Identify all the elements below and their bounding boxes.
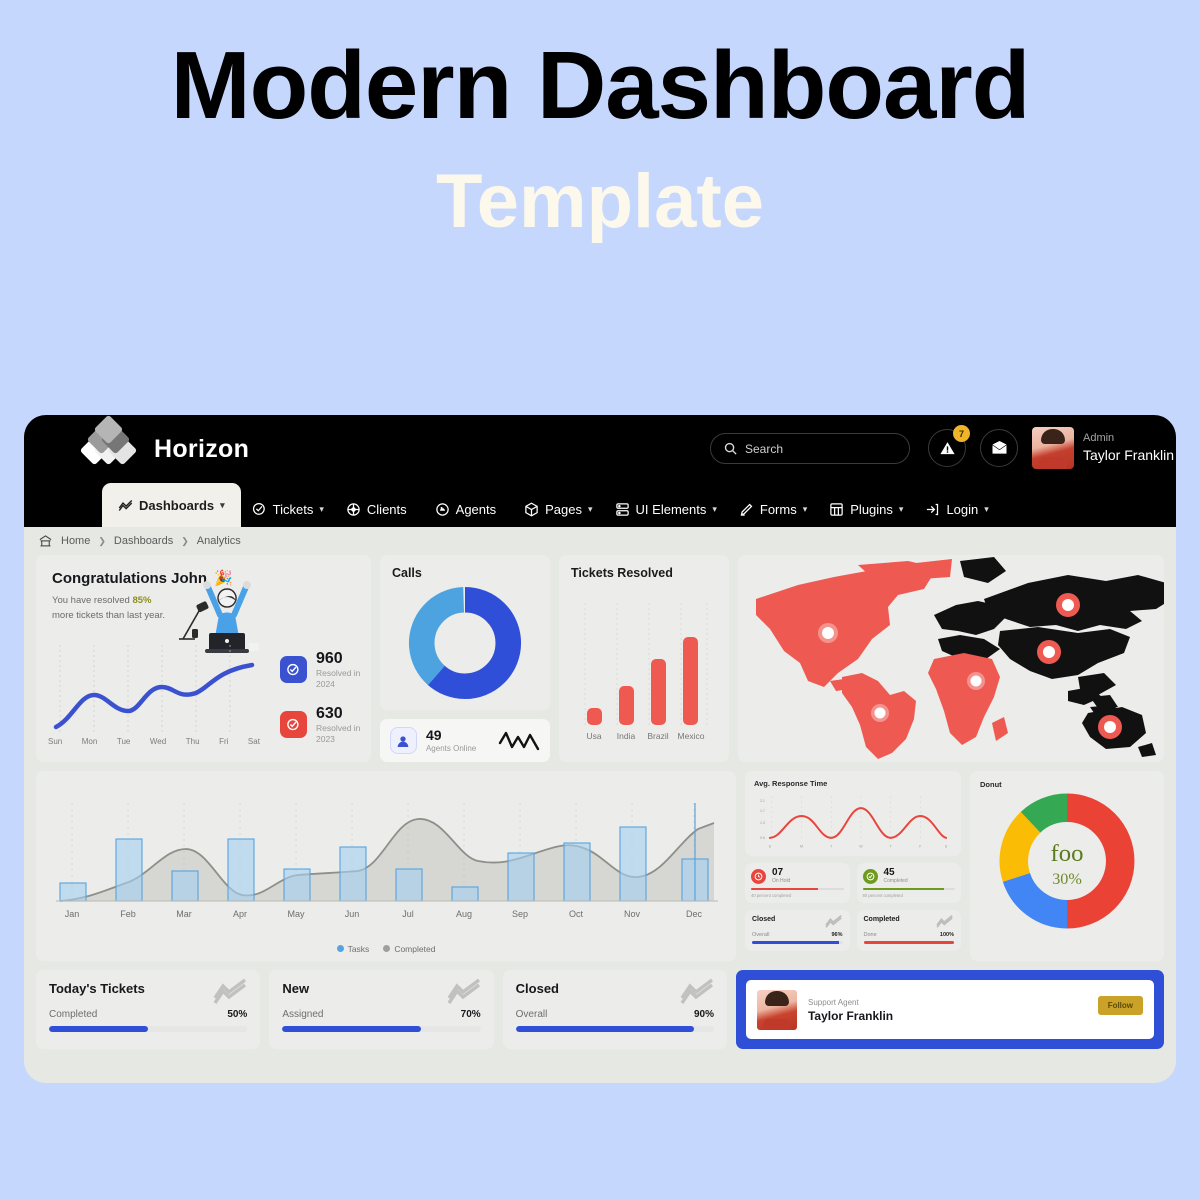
congrats-line2: more tickets than last year. xyxy=(52,610,165,621)
trend-up-icon xyxy=(936,915,954,928)
horizon-logo-icon xyxy=(80,428,142,470)
map-pin xyxy=(967,672,985,690)
map-pin xyxy=(1056,593,1080,617)
trend-up-icon xyxy=(447,978,481,1004)
congrats-line1-pre: You have resolved xyxy=(52,595,132,606)
donut-chart: foo 30% xyxy=(991,785,1143,937)
world-map-card xyxy=(738,555,1164,762)
tile-progress-bar xyxy=(516,1026,714,1032)
x-tick: Sun xyxy=(48,737,62,746)
user-role: Admin xyxy=(1083,431,1174,446)
completed-metric-card: 45 Completed 80 percent completed xyxy=(857,863,962,903)
mini-metrics-row: 07 On Hold 40 percent completed xyxy=(745,863,961,903)
nav-item-forms[interactable]: Forms ▾ xyxy=(728,491,818,527)
x-tick: Jul xyxy=(402,909,414,919)
x-tick: Fri xyxy=(219,737,228,746)
tile-label: Assigned xyxy=(282,1009,323,1020)
x-tick: Sep xyxy=(512,909,528,919)
check-badge-icon xyxy=(280,711,307,738)
main-nav: Dashboards ▾ Tickets ▾ Clients Age xyxy=(24,483,1176,527)
breadcrumb-analytics[interactable]: Analytics xyxy=(197,535,241,547)
x-tick: M xyxy=(800,845,803,849)
completed-icon xyxy=(863,869,878,884)
nav-label: Dashboards xyxy=(139,498,214,513)
ticket-check-icon xyxy=(252,502,267,517)
map-pin xyxy=(871,704,889,722)
tickets-bar-chart: Usa India Brazil Mexico xyxy=(571,588,717,750)
grid-icon xyxy=(829,502,844,517)
weekly-chart-labels: Sun Mon Tue Wed Thu Fri Sat xyxy=(46,737,262,746)
x-tick: Jun xyxy=(345,909,360,919)
nav-item-ui-elements[interactable]: UI Elements ▾ xyxy=(604,491,728,527)
metric-footer: 80 percent completed xyxy=(863,893,956,898)
promo-subtitle: Template xyxy=(0,164,1200,240)
nav-item-dashboards[interactable]: Dashboards ▾ xyxy=(102,483,241,527)
trend-up-icon xyxy=(680,978,714,1004)
progress-metrics-row: Closed Overall 96% Completed xyxy=(745,910,961,951)
support-agent-role: Support Agent xyxy=(808,997,893,1009)
chevron-down-icon: ▾ xyxy=(803,504,808,515)
congrats-percent: 85% xyxy=(132,595,151,606)
x-tick: F xyxy=(919,845,922,849)
nav-label: Pages xyxy=(545,502,582,517)
row-top: Congratulations John 🎉 You have resolved… xyxy=(36,555,1164,762)
todays-tickets-tile: Today's Tickets Completed 50% xyxy=(36,970,260,1049)
nav-label: Forms xyxy=(760,502,797,517)
tile-percent: 50% xyxy=(227,1009,247,1020)
dashboard-body: Congratulations John 🎉 You have resolved… xyxy=(24,555,1176,1070)
nav-item-tickets[interactable]: Tickets ▾ xyxy=(241,491,335,527)
search-icon xyxy=(723,441,738,456)
tile-percent: 90% xyxy=(694,1009,714,1020)
breadcrumb: Home ❯ Dashboards ❯ Analytics xyxy=(24,527,1176,555)
agents-sparkline-icon xyxy=(498,729,540,753)
donut-center-label: foo xyxy=(1051,840,1084,867)
metric-footer: 40 percent completed xyxy=(751,893,844,898)
donut-card: Donut foo 30% xyxy=(970,771,1164,961)
chevron-down-icon: ▾ xyxy=(588,504,593,515)
metric-progress-bar xyxy=(863,888,956,890)
envelope-icon xyxy=(991,441,1008,455)
x-tick: Mexico xyxy=(678,731,705,741)
warning-triangle-icon xyxy=(939,440,956,457)
tasks-completed-chart-card: Jan Feb Mar Apr May Jun Jul Aug Sep Oct … xyxy=(36,771,736,961)
trend-up-icon xyxy=(825,915,843,928)
nav-label: UI Elements xyxy=(636,502,707,517)
alert-badge: 7 xyxy=(953,425,970,442)
user-profile[interactable]: Admin Taylor Franklin xyxy=(1032,427,1174,469)
agent-headset-icon xyxy=(435,502,450,517)
x-tick: Aug xyxy=(456,909,472,919)
chevron-down-icon: ▾ xyxy=(899,504,904,515)
y-tick: 2.1 xyxy=(760,799,765,803)
map-pin xyxy=(818,623,838,643)
closed-tickets-tile: Closed Overall 90% xyxy=(503,970,727,1049)
tickets-resolved-card: Tickets Resolved Usa India Brazil xyxy=(559,555,729,762)
layers-icon xyxy=(615,502,630,517)
calls-title: Calls xyxy=(392,566,538,580)
x-tick: Apr xyxy=(233,909,247,919)
agents-online-card: 49 Agents Online xyxy=(380,719,550,762)
x-tick: Brazil xyxy=(647,731,668,741)
x-tick: S xyxy=(769,845,772,849)
home-icon xyxy=(38,534,53,549)
nav-item-clients[interactable]: Clients xyxy=(335,491,424,527)
progress-label: Done xyxy=(864,932,877,938)
nav-label: Tickets xyxy=(273,502,314,517)
legend-item-completed: Completed xyxy=(383,944,435,954)
row-middle: Jan Feb Mar Apr May Jun Jul Aug Sep Oct … xyxy=(36,771,1164,961)
box-icon xyxy=(524,502,539,517)
on-hold-icon xyxy=(751,869,766,884)
progress-percent: 96% xyxy=(831,932,842,938)
metric-label: On Hold xyxy=(772,878,790,884)
completed-progress-card: Completed Done 100% xyxy=(857,910,962,951)
progress-percent: 100% xyxy=(940,932,954,938)
x-tick: Oct xyxy=(569,909,584,919)
stat-value: 630 xyxy=(316,705,360,723)
tasks-completed-chart: Jan Feb Mar Apr May Jun Jul Aug Sep Oct … xyxy=(46,779,726,937)
chevron-down-icon: ▾ xyxy=(319,504,324,515)
stat-label: Resolved in xyxy=(316,668,360,679)
y-tick: 1.7 xyxy=(760,809,765,813)
nav-label: Agents xyxy=(456,502,496,517)
x-tick: Nov xyxy=(624,909,641,919)
x-tick: Thu xyxy=(186,737,200,746)
legend-item-tasks: Tasks xyxy=(337,944,370,954)
x-tick: S xyxy=(945,845,948,849)
support-agent-name: Taylor Franklin xyxy=(808,1009,893,1023)
avg-response-title: Avg. Response Time xyxy=(754,779,952,788)
x-tick: Sat xyxy=(248,737,260,746)
tickets-resolved-title: Tickets Resolved xyxy=(571,566,717,580)
stat-label: Resolved in xyxy=(316,723,360,734)
support-agent-card: Support Agent Taylor Franklin Follow xyxy=(736,970,1164,1049)
response-column: Avg. Response Time 2.1 1.7 1.3 0.5 xyxy=(745,771,961,961)
breadcrumb-home[interactable]: Home xyxy=(61,535,90,547)
chevron-down-icon: ▾ xyxy=(220,500,225,511)
tile-progress-bar xyxy=(49,1026,247,1032)
stat-resolved-2024: 960 Resolved in 2024 xyxy=(280,650,360,690)
chevron-down-icon: ▾ xyxy=(712,504,717,515)
breadcrumb-dashboards[interactable]: Dashboards xyxy=(114,535,173,547)
x-tick: W xyxy=(859,845,863,849)
clients-icon xyxy=(346,502,361,517)
world-map xyxy=(738,555,1164,762)
progress-bar xyxy=(752,941,843,944)
nav-item-login[interactable]: Login ▾ xyxy=(914,491,999,527)
stat-year: 2024 xyxy=(316,679,360,690)
donut-center-value: 30% xyxy=(1052,871,1082,888)
check-badge-icon xyxy=(280,656,307,683)
chevron-down-icon: ▾ xyxy=(984,504,989,515)
tile-label: Completed xyxy=(49,1009,97,1020)
closed-progress-card: Closed Overall 96% xyxy=(745,910,850,951)
new-tickets-tile: New Assigned 70% xyxy=(269,970,493,1049)
stat-resolved-2023: 630 Resolved in 2023 xyxy=(280,705,360,745)
brand[interactable]: Horizon xyxy=(80,428,249,470)
row-bottom: Today's Tickets Completed 50% New xyxy=(36,970,1164,1049)
calls-column: Calls 49 Agents Online xyxy=(380,555,550,762)
messages-button[interactable] xyxy=(980,429,1018,467)
progress-label: Overall xyxy=(752,932,769,938)
support-agent-inner: Support Agent Taylor Franklin Follow xyxy=(746,980,1154,1039)
x-tick: May xyxy=(287,909,305,919)
pen-icon xyxy=(739,502,754,517)
brand-name: Horizon xyxy=(154,435,249,464)
search-text: Search xyxy=(745,442,783,456)
login-arrow-icon xyxy=(925,502,940,517)
map-pin xyxy=(1037,640,1061,664)
x-tick: Wed xyxy=(150,737,166,746)
alerts-button[interactable]: 7 xyxy=(928,429,966,467)
trend-up-icon xyxy=(213,978,247,1004)
user-name: Taylor Franklin xyxy=(1083,446,1174,465)
nav-label: Clients xyxy=(367,502,407,517)
stat-year: 2023 xyxy=(316,734,360,745)
metric-value: 07 xyxy=(772,868,790,878)
nav-label: Login xyxy=(946,502,978,517)
metric-label: Completed xyxy=(884,878,908,884)
y-tick: 1.3 xyxy=(760,821,765,825)
x-tick: Jan xyxy=(65,909,80,919)
x-tick: T xyxy=(890,845,893,849)
x-tick: Mon xyxy=(82,737,98,746)
progress-bar xyxy=(864,941,955,944)
x-tick: T xyxy=(830,845,833,849)
map-pin xyxy=(1098,715,1122,739)
dashboard-screenshot: Horizon Search 7 Admin xyxy=(24,415,1176,1083)
x-tick: Usa xyxy=(586,731,601,741)
promo-title: Modern Dashboard xyxy=(0,38,1200,134)
avatar xyxy=(757,990,797,1030)
app-topbar: Horizon Search 7 Admin xyxy=(24,415,1176,483)
stat-value: 960 xyxy=(316,650,360,668)
calls-donut-chart xyxy=(406,584,524,702)
tile-percent: 70% xyxy=(461,1009,481,1020)
tile-progress-bar xyxy=(282,1026,480,1032)
avg-response-line-chart: 2.1 1.7 1.3 0.5 SM TW TF S xyxy=(754,790,952,852)
agents-count: 49 xyxy=(426,728,476,743)
analytics-icon xyxy=(118,498,133,513)
congratulations-card: Congratulations John 🎉 You have resolved… xyxy=(36,555,371,762)
metric-value: 45 xyxy=(884,868,908,878)
chart-legend: Tasks Completed xyxy=(46,944,726,954)
metric-progress-bar xyxy=(751,888,844,890)
on-hold-metric-card: 07 On Hold 40 percent completed xyxy=(745,863,850,903)
x-tick: Tue xyxy=(117,737,131,746)
x-tick: Mar xyxy=(176,909,192,919)
nav-item-plugins[interactable]: Plugins ▾ xyxy=(818,491,914,527)
nav-item-agents[interactable]: Agents xyxy=(424,491,513,527)
nav-label: Plugins xyxy=(850,502,893,517)
avatar xyxy=(1032,427,1074,469)
breadcrumb-separator: ❯ xyxy=(181,536,189,547)
tile-label: Overall xyxy=(516,1009,548,1020)
nav-item-pages[interactable]: Pages ▾ xyxy=(513,491,603,527)
promo-header: Modern Dashboard Template xyxy=(0,0,1200,240)
avg-response-time-card: Avg. Response Time 2.1 1.7 1.3 0.5 xyxy=(745,771,961,856)
y-tick: 0.5 xyxy=(760,836,765,840)
calls-card: Calls xyxy=(380,555,550,710)
x-tick: Dec xyxy=(686,909,703,919)
search-input[interactable]: Search xyxy=(710,433,910,464)
x-tick: Feb xyxy=(120,909,136,919)
agents-label: Agents Online xyxy=(426,744,476,753)
follow-button[interactable]: Follow xyxy=(1098,996,1143,1015)
agent-avatar-icon xyxy=(390,727,417,754)
x-tick: India xyxy=(617,731,636,741)
weekly-line-chart xyxy=(46,639,262,749)
breadcrumb-separator: ❯ xyxy=(98,536,106,547)
